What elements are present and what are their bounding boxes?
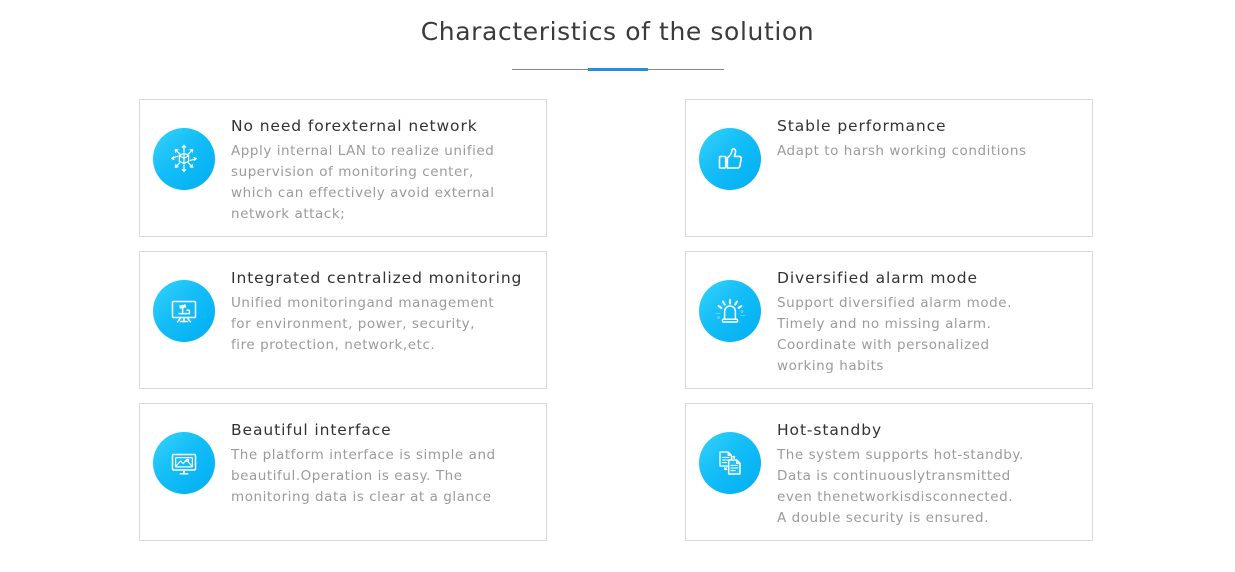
desc-line: fire protection, network,etc.: [231, 335, 522, 356]
card-description: Apply internal LAN to realize unified su…: [231, 141, 495, 225]
desc-line: Data is continuouslytransmitted: [777, 466, 1024, 487]
card-title: Stable performance: [777, 115, 1027, 137]
card-description: Adapt to harsh working conditions: [777, 141, 1027, 162]
desc-line: Apply internal LAN to realize unified: [231, 141, 495, 162]
card-title: Diversified alarm mode: [777, 267, 1012, 289]
desc-line: A double security is ensured.: [777, 508, 1024, 529]
card-body: Integrated centralized monitoring Unifie…: [231, 266, 522, 356]
desc-line: working habits: [777, 356, 1012, 377]
divider-accent: [588, 68, 648, 71]
feature-card[interactable]: Diversified alarm mode Support diversifi…: [685, 251, 1093, 389]
documents-sync-icon: [699, 432, 761, 494]
desc-line: which can effectively avoid external: [231, 183, 495, 204]
card-body: Stable performance Adapt to harsh workin…: [777, 114, 1027, 162]
features-grid: No need forexternal network Apply intern…: [139, 99, 1093, 541]
desc-line: supervision of monitoring center,: [231, 162, 495, 183]
desc-line: Unified monitoringand management: [231, 293, 522, 314]
card-description: Support diversified alarm mode. Timely a…: [777, 293, 1012, 377]
card-title: Beautiful interface: [231, 419, 496, 441]
card-title: Hot-standby: [777, 419, 1024, 441]
desc-line: Adapt to harsh working conditions: [777, 141, 1027, 162]
desc-line: even thenetworkisdisconnected.: [777, 487, 1024, 508]
card-body: Hot-standby The system supports hot-stan…: [777, 418, 1024, 529]
title-divider: [512, 68, 724, 71]
desc-line: Timely and no missing alarm.: [777, 314, 1012, 335]
desc-line: Coordinate with personalized: [777, 335, 1012, 356]
feature-card[interactable]: Hot-standby The system supports hot-stan…: [685, 403, 1093, 541]
card-description: The platform interface is simple and bea…: [231, 445, 496, 508]
desc-line: for environment, power, security,: [231, 314, 522, 335]
page-header: Characteristics of the solution: [0, 0, 1235, 71]
card-title: No need forexternal network: [231, 115, 495, 137]
card-body: Beautiful interface The platform interfa…: [231, 418, 496, 508]
monitor-camera-icon: [153, 280, 215, 342]
feature-card[interactable]: Integrated centralized monitoring Unifie…: [139, 251, 547, 389]
desc-line: The system supports hot-standby.: [777, 445, 1024, 466]
monitor-picture-icon: [153, 432, 215, 494]
card-description: The system supports hot-standby. Data is…: [777, 445, 1024, 529]
alarm-siren-icon: [699, 280, 761, 342]
desc-line: monitoring data is clear at a glance: [231, 487, 496, 508]
network-cube-icon: [153, 128, 215, 190]
card-description: Unified monitoringand management for env…: [231, 293, 522, 356]
desc-line: The platform interface is simple and: [231, 445, 496, 466]
feature-card[interactable]: Stable performance Adapt to harsh workin…: [685, 99, 1093, 237]
page-title: Characteristics of the solution: [0, 16, 1235, 48]
desc-line: network attack;: [231, 204, 495, 225]
feature-card[interactable]: No need forexternal network Apply intern…: [139, 99, 547, 237]
desc-line: Support diversified alarm mode.: [777, 293, 1012, 314]
card-title: Integrated centralized monitoring: [231, 267, 522, 289]
desc-line: beautiful.Operation is easy. The: [231, 466, 496, 487]
card-body: Diversified alarm mode Support diversifi…: [777, 266, 1012, 377]
feature-card[interactable]: Beautiful interface The platform interfa…: [139, 403, 547, 541]
card-body: No need forexternal network Apply intern…: [231, 114, 495, 225]
thumbs-up-icon: [699, 128, 761, 190]
